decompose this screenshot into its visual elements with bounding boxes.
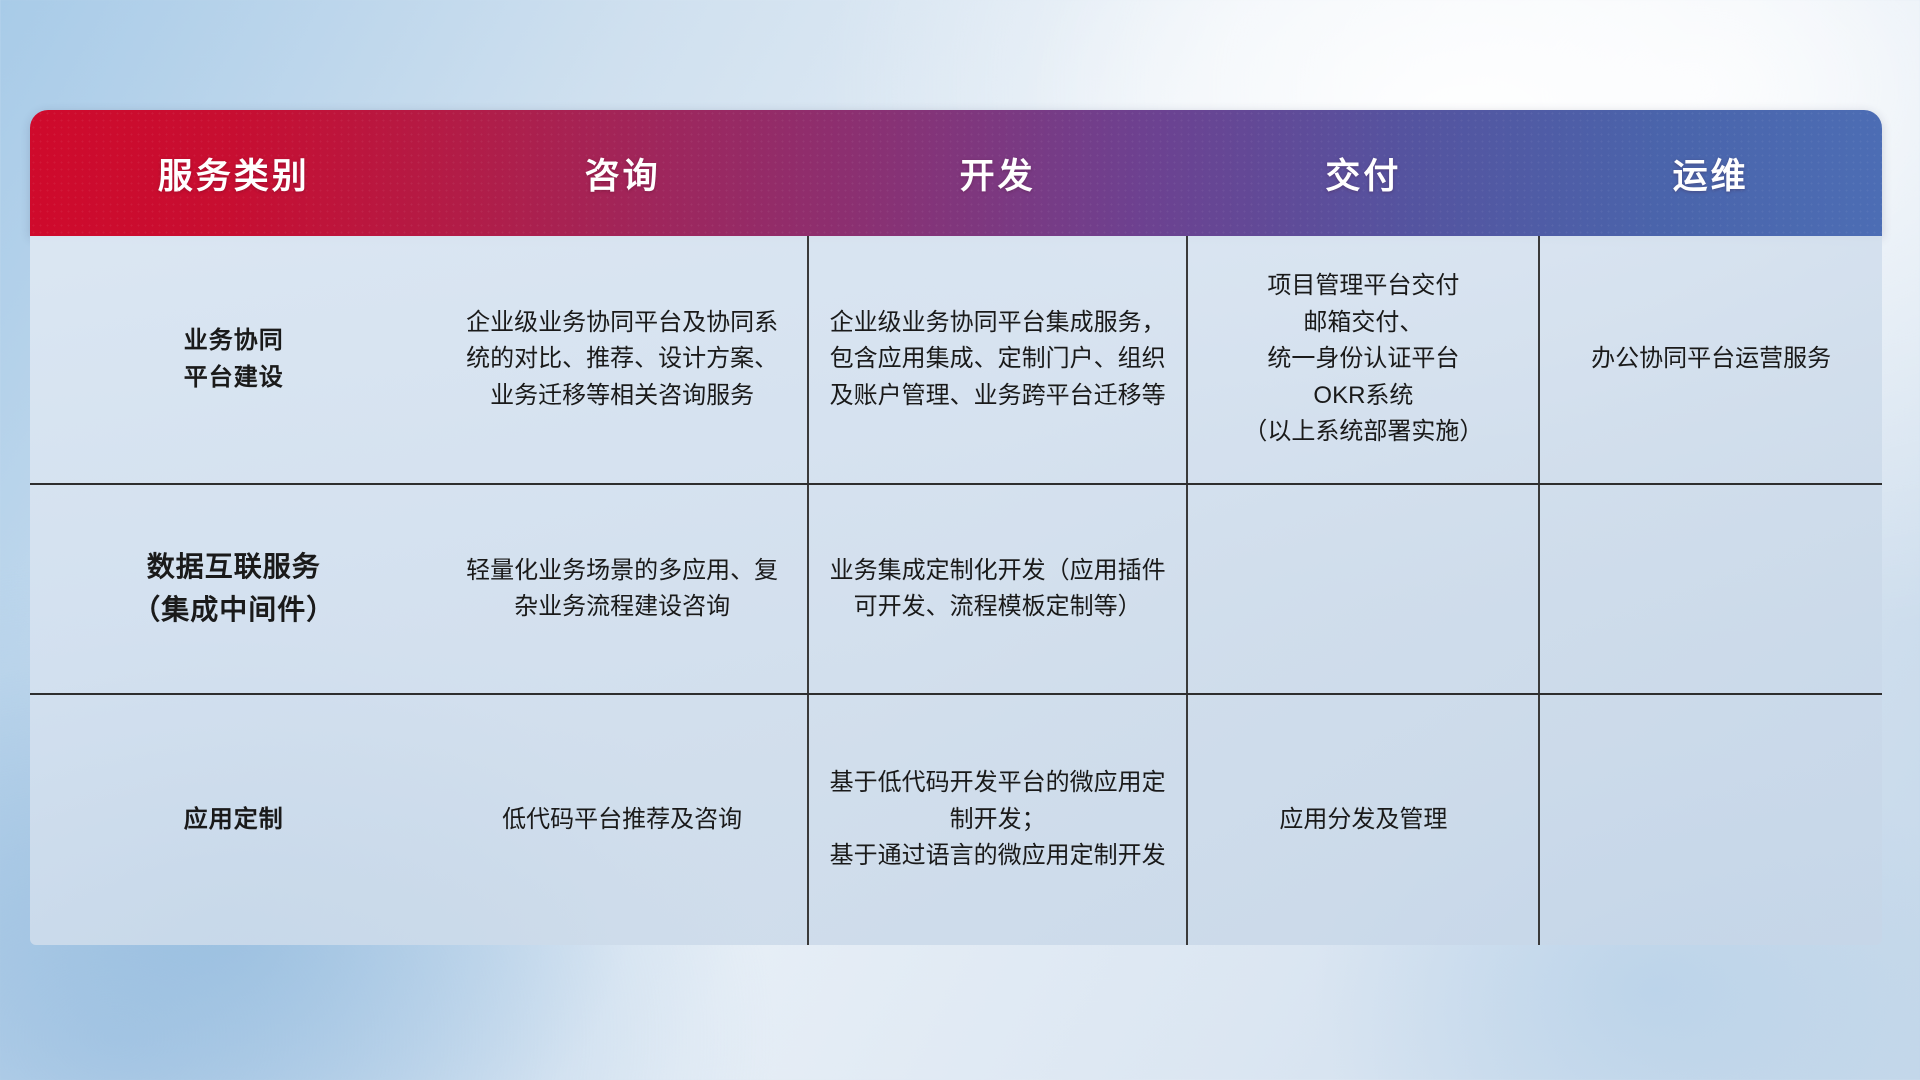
column-header-category: 服务类别 — [30, 148, 437, 199]
table-body: 业务协同 平台建设 企业级业务协同平台及协同系 统的对比、推荐、设计方案、 业务… — [30, 236, 1882, 945]
cell-consult: 企业级业务协同平台及协同系 统的对比、推荐、设计方案、 业务迁移等相关咨询服务 — [437, 236, 807, 484]
table-row: 业务协同 平台建设 企业级业务协同平台及协同系 统的对比、推荐、设计方案、 业务… — [30, 236, 1882, 484]
cell-deliver: 项目管理平台交付 邮箱交付、 统一身份认证平台 OKR系统 （以上系统部署实施） — [1187, 236, 1539, 484]
cell-deliver: 应用分发及管理 — [1187, 694, 1539, 945]
column-header-develop: 开发 — [808, 148, 1188, 199]
table-row: 数据互联服务 （集成中间件） 轻量化业务场景的多应用、复 杂业务流程建设咨询 业… — [30, 484, 1882, 694]
column-header-consult: 咨询 — [437, 148, 807, 199]
cell-operate — [1539, 694, 1882, 945]
cell-consult: 低代码平台推荐及咨询 — [437, 694, 807, 945]
slide-canvas: 服务类别 咨询 开发 交付 运维 业务协同 平台建设 企业级业务协同平台及协同系… — [0, 0, 1920, 1080]
cell-develop: 业务集成定制化开发（应用插件 可开发、流程模板定制等） — [808, 484, 1188, 694]
row-category-label: 应用定制 — [30, 694, 437, 945]
cell-develop: 基于低代码开发平台的微应用定 制开发； 基于通过语言的微应用定制开发 — [808, 694, 1188, 945]
cell-operate: 办公协同平台运营服务 — [1539, 236, 1882, 484]
cell-consult: 轻量化业务场景的多应用、复 杂业务流程建设咨询 — [437, 484, 807, 694]
cell-operate — [1539, 484, 1882, 694]
column-header-operate: 运维 — [1539, 148, 1882, 199]
row-category-label: 数据互联服务 （集成中间件） — [30, 484, 437, 694]
column-header-deliver: 交付 — [1187, 148, 1539, 199]
service-matrix-table: 业务协同 平台建设 企业级业务协同平台及协同系 统的对比、推荐、设计方案、 业务… — [30, 236, 1882, 945]
cell-develop: 企业级业务协同平台集成服务， 包含应用集成、定制门户、组织 及账户管理、业务跨平… — [808, 236, 1188, 484]
cell-deliver — [1187, 484, 1539, 694]
row-category-label: 业务协同 平台建设 — [30, 236, 437, 484]
table-row: 应用定制 低代码平台推荐及咨询 基于低代码开发平台的微应用定 制开发； 基于通过… — [30, 694, 1882, 945]
table-header-row: 服务类别 咨询 开发 交付 运维 — [30, 110, 1882, 236]
